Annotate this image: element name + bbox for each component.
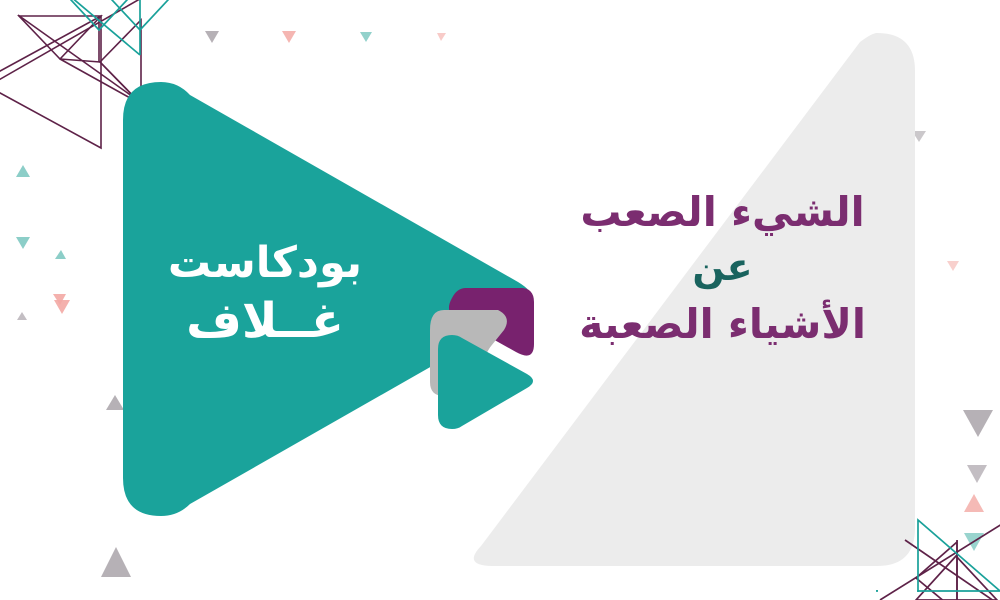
title-block: الشيء الصعب عن الأشياء الصعبة: [545, 183, 900, 353]
poster-canvas: بودكاست غــلاف الشيء الصعب عن الأشياء ال…: [0, 0, 1000, 600]
title-line-3: الأشياء الصعبة: [545, 295, 900, 353]
outline-triangle-teal-bottomright-1: [918, 520, 1000, 592]
cover-label-line-2: غــلاف: [120, 291, 410, 352]
title-line-1: الشيء الصعب: [545, 183, 900, 241]
cover-label-block: بودكاست غــلاف: [120, 236, 410, 352]
title-line-2: عن: [545, 241, 900, 295]
outline-triangle-purple-bottomright-3: [880, 519, 1000, 600]
cover-label-line-1: بودكاست: [120, 236, 410, 291]
